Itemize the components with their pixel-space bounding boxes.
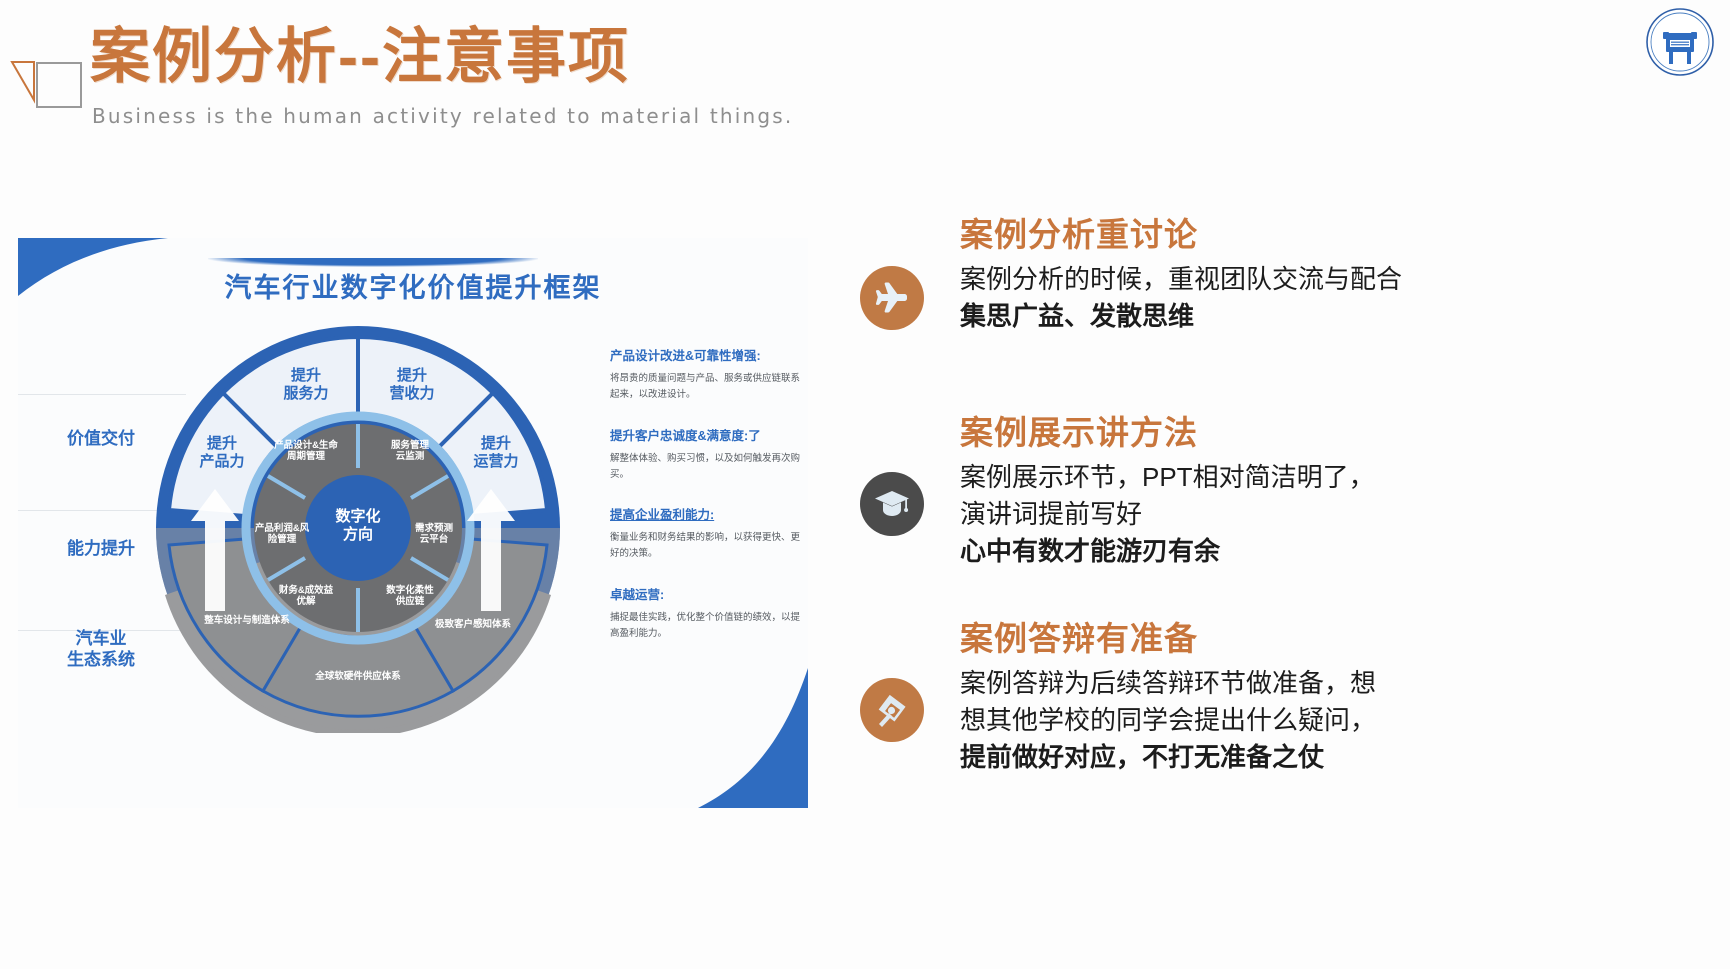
- side-label-value-delivery: 价值交付: [46, 428, 156, 449]
- pen-nib-icon: [860, 678, 924, 742]
- side-label-ecosystem: 汽车业 生态系统: [46, 628, 156, 671]
- slide-header: 案例分析--注意事项 Business is the human activit…: [0, 0, 1730, 160]
- figure-notes-column: 产品设计改进&可靠性增强: 将昂贵的质量问题与产品、服务或供应链联系起来，以改进…: [610, 348, 800, 666]
- value-framework-wheel: 提升 服务力 提升 营收力 提升 产品力 提升 运营力 整车设计与制造体系 极致…: [153, 323, 563, 733]
- page-title: 案例分析--注意事项: [90, 22, 630, 91]
- side-label-ecosystem-line1: 汽车业: [76, 629, 127, 648]
- figure-note-body: 解整体体验、购买习惯，以及如何触发再次购买。: [610, 451, 800, 483]
- figure-note-3: 卓越运营: 捕捉最佳实践，优化整个价值链的绩效，以提高盈利能力。: [610, 587, 800, 643]
- figure-note-body: 将昂贵的质量问题与产品、服务或供应链联系起来，以改进设计。: [610, 371, 800, 403]
- figure-note-heading: 产品设计改进&可靠性增强:: [610, 348, 800, 364]
- key-point-defense: 案例答辩有准备 案例答辩为后续答辩环节做准备，想 想其他学校的同学会提出什么疑问…: [840, 618, 1710, 776]
- key-point-heading: 案例分析重讨论: [960, 214, 1710, 255]
- key-point-heading: 案例答辩有准备: [960, 618, 1710, 659]
- figure-note-body: 衡量业务和财务结果的影响，以获得更快、更好的决策。: [610, 530, 800, 562]
- airplane-icon: [860, 266, 924, 330]
- key-point-line: 案例答辩为后续答辩环节做准备，想: [960, 665, 1710, 702]
- figure-note-0: 产品设计改进&可靠性增强: 将昂贵的质量问题与产品、服务或供应链联系起来，以改进…: [610, 348, 800, 404]
- key-point-line: 案例分析的时候，重视团队交流与配合: [960, 261, 1710, 298]
- key-point-line-emphasis: 心中有数才能游刃有余: [960, 533, 1710, 570]
- figure-note-body: 捕捉最佳实践，优化整个价值链的绩效，以提高盈利能力。: [610, 610, 800, 642]
- triangle-square-icon: [8, 42, 84, 108]
- graduation-cap-icon: [860, 472, 924, 536]
- figure-note-1: 提升客户忠诚度&满意度:了 解整体体验、购买习惯，以及如何触发再次购买。: [610, 428, 800, 484]
- key-point-line: 演讲词提前写好: [960, 496, 1710, 533]
- key-points-list: 案例分析重讨论 案例分析的时候，重视团队交流与配合 集思广益、发散思维 案例展示…: [840, 214, 1710, 824]
- key-point-line: 想其他学校的同学会提出什么疑问，: [960, 702, 1710, 739]
- key-point-line-emphasis: 提前做好对应，不打无准备之仗: [960, 739, 1710, 776]
- figure-note-2: 提高企业盈利能力: 衡量业务和财务结果的影响，以获得更快、更好的决策。: [610, 507, 800, 563]
- figure-corner-accent-bottom: [638, 668, 808, 808]
- side-label-ecosystem-line2: 生态系统: [67, 650, 135, 669]
- key-point-presentation: 案例展示讲方法 案例展示环节，PPT相对简洁明了， 演讲词提前写好 心中有数才能…: [840, 412, 1710, 570]
- figure-note-heading: 提高企业盈利能力:: [610, 507, 800, 523]
- figure-note-heading: 提升客户忠诚度&满意度:了: [610, 428, 800, 444]
- slide-canvas: 案例分析--注意事项 Business is the human activit…: [0, 0, 1730, 969]
- page-subtitle: Business is the human activity related t…: [92, 104, 793, 128]
- figure-note-heading: 卓越运营:: [610, 587, 800, 603]
- university-seal-logo: [1644, 6, 1716, 78]
- figure-title: 汽车行业数字化价值提升框架: [18, 266, 808, 305]
- key-point-discussion: 案例分析重讨论 案例分析的时候，重视团队交流与配合 集思广益、发散思维: [840, 214, 1710, 364]
- side-label-capability: 能力提升: [46, 538, 156, 559]
- framework-figure: 汽车行业数字化价值提升框架 价值交付 能力提升 汽车业 生态系统: [18, 238, 808, 808]
- key-point-line: 案例展示环节，PPT相对简洁明了，: [960, 459, 1710, 496]
- wheel-graphic: [153, 323, 563, 733]
- key-point-line-emphasis: 集思广益、发散思维: [960, 298, 1710, 335]
- key-point-heading: 案例展示讲方法: [960, 412, 1710, 453]
